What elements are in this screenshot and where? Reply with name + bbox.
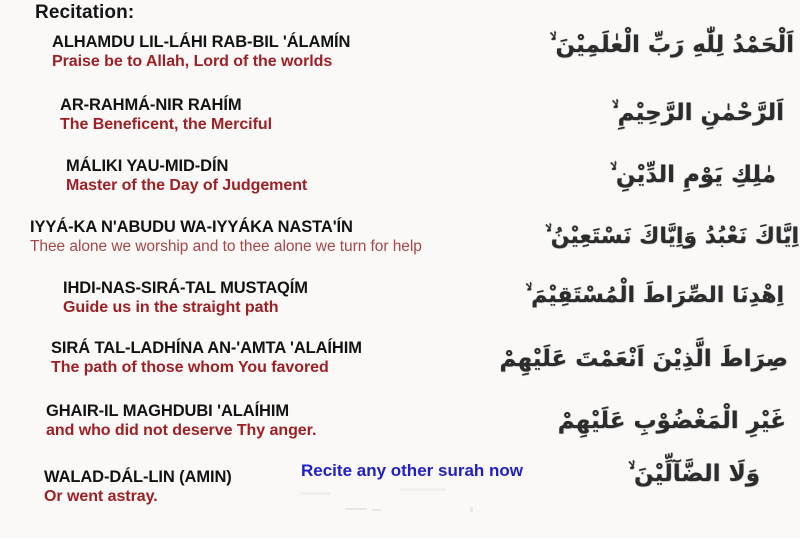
verse-translation: Thee alone we worship and to thee alone … [30,238,422,256]
arabic-verse: صِرَاطَ الَّذِيْنَ اَنْعَمْتَ عَلَيْهِمْ [500,348,788,371]
verse-translation: and who did not deserve Thy anger. [46,422,316,441]
arabic-verse: غَيْرِ الْمَغْضُوْبِ عَلَيْهِمْ [558,410,786,433]
arabic-verse: اِهْدِنَا الصِّرَاطَ الْمُسْتَقِيْمَ ۙ [526,285,784,307]
scan-artifact [372,509,381,511]
arabic-verse: اِيَّاكَ نَعْبُدُ وَاِيَّاكَ نَسْتَعِيْن… [545,226,799,248]
verse-block: ALHAMDU LIL-LÁHI RAB-BIL 'ÁLAMÍN Praise … [52,33,350,72]
verse-transliteration: SIRÁ TAL-LADHÍNA AN-'AMTA 'ALAÍHIM [51,339,362,357]
recitation-page: Recitation: ALHAMDU LIL-LÁHI RAB-BIL 'ÁL… [0,0,800,538]
scan-artifact [470,507,473,512]
scan-artifact [400,488,446,491]
verse-transliteration: ALHAMDU LIL-LÁHI RAB-BIL 'ÁLAMÍN [52,33,350,51]
verse-translation: Praise be to Allah, Lord of the worlds [52,53,350,72]
arabic-column: اَلْحَمْدُ لِلّٰهِ رَبِّ الْعٰلَمِيْنَ ۙ… [455,0,800,538]
recite-note: Recite any other surah now [301,461,523,481]
arabic-verse: مٰلِكِ يَوْمِ الدِّيْنِ ۙ [610,164,776,187]
verse-translation: Or went astray. [44,488,232,507]
verse-translation: The path of those whom You favored [51,359,362,378]
verse-transliteration: AR-RAHMÁ-NIR RAHÍM [60,96,272,114]
verse-block: AR-RAHMÁ-NIR RAHÍM The Beneficent, the M… [60,96,272,135]
verse-transliteration: IYYÁ-KA N'ABUDU WA-IYYÁKA NASTA'ÍN [30,218,422,236]
transliteration-column: ALHAMDU LIL-LÁHI RAB-BIL 'ÁLAMÍN Praise … [0,0,500,538]
verse-transliteration: IHDI-NAS-SIRÁ-TAL MUSTAQÍM [63,279,308,297]
verse-translation: The Beneficent, the Merciful [60,116,272,135]
arabic-verse: وَلَا الضَّآلِّيْنَ ۙ [628,463,760,486]
arabic-verse: اَلرَّحْمٰنِ الرَّحِيْمِ ۙ [612,102,784,125]
verse-transliteration: WALAD-DÁL-LIN (AMIN) [44,468,232,486]
verse-translation: Master of the Day of Judgement [66,177,307,196]
verse-transliteration: GHAIR-IL MAGHDUBI 'ALAÍHIM [46,402,316,420]
arabic-verse: اَلْحَمْدُ لِلّٰهِ رَبِّ الْعٰلَمِيْنَ ۙ [550,34,794,57]
scan-artifact [300,492,330,495]
verse-block: GHAIR-IL MAGHDUBI 'ALAÍHIM and who did n… [46,402,316,441]
verse-translation: Guide us in the straight path [63,299,308,318]
verse-transliteration: MÁLIKI YAU-MID-DÍN [66,157,307,175]
verse-block: IYYÁ-KA N'ABUDU WA-IYYÁKA NASTA'ÍN Thee … [30,218,422,257]
verse-block: WALAD-DÁL-LIN (AMIN) Or went astray. [44,468,232,507]
verse-block: SIRÁ TAL-LADHÍNA AN-'AMTA 'ALAÍHIM The p… [51,339,362,378]
scan-artifact [345,508,367,510]
verse-block: MÁLIKI YAU-MID-DÍN Master of the Day of … [66,157,307,196]
verse-block: IHDI-NAS-SIRÁ-TAL MUSTAQÍM Guide us in t… [63,279,308,318]
